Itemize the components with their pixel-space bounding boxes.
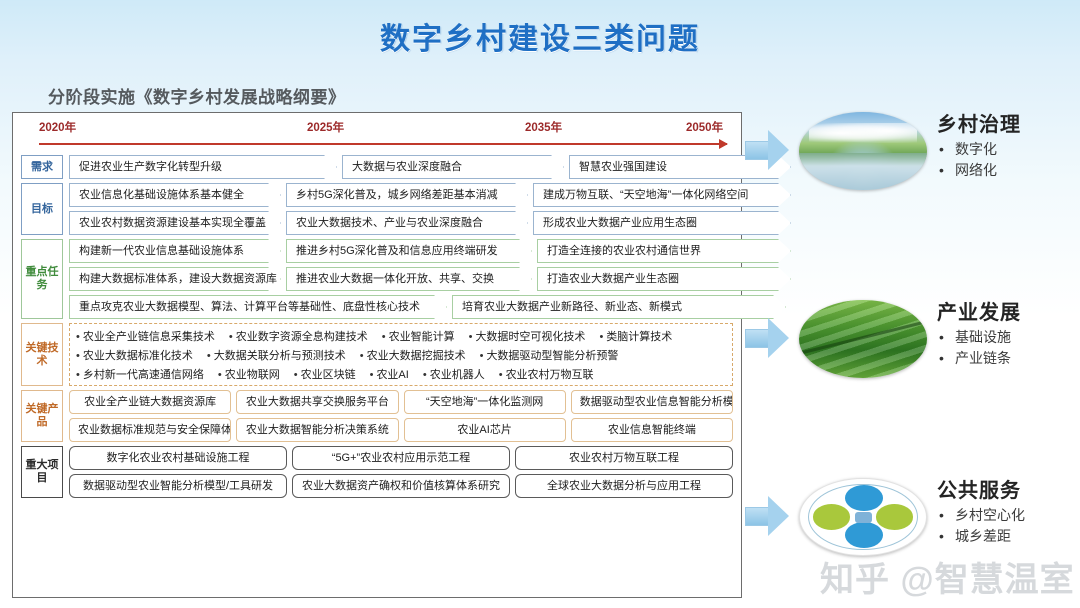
technology-item: 农业物联网 <box>218 366 280 382</box>
row-label-text: 重点任务 <box>22 266 62 291</box>
roadmap-band: 重点攻克农业大数据模型、算法、计算平台等基础性、底盘性核心技术培育农业大数据产业… <box>69 295 791 319</box>
row-label: 需求 <box>21 155 63 179</box>
roadmap-cell: “5G+”农业农村应用示范工程 <box>292 446 510 470</box>
roadmap-band: 农业数据标准规范与安全保障体系农业大数据智能分析决策系统农业AI芯片农业信息智能… <box>69 418 733 442</box>
roadmap-band: 构建大数据标准体系，建设大数据资源库推进农业大数据一体化开放、共享、交换打造农业… <box>69 267 791 291</box>
roadmap-band: 农业农村数据资源建设基本实现全覆盖农业大数据技术、产业与农业深度融合形成农业大数… <box>69 211 791 235</box>
roadmap-cell: 全球农业大数据分析与应用工程 <box>515 474 733 498</box>
diagram-lobe-top <box>845 485 883 511</box>
row-label-text: 目标 <box>31 203 53 216</box>
technology-line: 农业大数据标准化技术大数据关联分析与预测技术农业大数据挖掘技术大数据驱动型智能分… <box>76 347 726 363</box>
timeline-year-2050: 2050年 <box>686 119 723 135</box>
technology-item: 乡村新一代高速通信网络 <box>76 366 204 382</box>
technology-item: 农业机器人 <box>423 366 485 382</box>
roadmap-cell: 构建新一代农业信息基础设施体系 <box>69 239 281 263</box>
diagram-lobe-right <box>876 504 914 530</box>
panel-title: 乡村治理 <box>937 114 1021 137</box>
technology-line: 农业全产业链信息采集技术农业数字资源全息构建技术农业智能计算大数据时空可视化技术… <box>76 328 726 344</box>
row-label-text: 关键技术 <box>22 342 62 367</box>
list-item: 网络化 <box>937 160 1021 181</box>
panel-industry-development: 产业发展 基础设施 产业链条 <box>745 300 1021 378</box>
roadmap-cell: 构建大数据标准体系，建设大数据资源库 <box>69 267 281 291</box>
list-item: 基础设施 <box>937 327 1021 348</box>
row-body: 农业信息化基础设施体系基本健全乡村5G深化普及，城乡网络差距基本消减建成万物互联… <box>69 183 791 235</box>
panel-title: 公共服务 <box>937 480 1025 503</box>
row-body: 数字化农业农村基础设施工程“5G+”农业农村应用示范工程农业农村万物互联工程数据… <box>69 446 733 498</box>
row-label: 重大项目 <box>21 446 63 498</box>
technology-item: 大数据时空可视化技术 <box>469 328 586 344</box>
roadmap-cell: 农业大数据技术、产业与农业深度融合 <box>286 211 528 235</box>
panel-bullets: 基础设施 产业链条 <box>937 327 1021 369</box>
arrow-icon <box>745 318 789 358</box>
roadmap-rows: 需求促进农业生产数字化转型升级大数据与农业深度融合智慧农业强国建设目标农业信息化… <box>21 155 733 498</box>
technology-item: 大数据驱动型智能分析预警 <box>480 347 619 363</box>
roadmap-frame: 2020年 2025年 2035年 2050年 需求促进农业生产数字化转型升级大… <box>12 112 742 598</box>
technology-item: 农业AI <box>370 366 409 382</box>
list-item: 产业链条 <box>937 348 1021 369</box>
roadmap-cell: 数据驱动型农业信息智能分析模型 <box>571 390 733 414</box>
roadmap-cell: 农业信息智能终端 <box>571 418 733 442</box>
roadmap-row: 重点任务构建新一代农业信息基础设施体系推进乡村5G深化普及和信息应用终端研发打造… <box>21 239 733 319</box>
diagram-lobe-left <box>813 504 851 530</box>
roadmap-row: 需求促进农业生产数字化转型升级大数据与农业深度融合智慧农业强国建设 <box>21 155 733 179</box>
roadmap-cell: 数字化农业农村基础设施工程 <box>69 446 287 470</box>
technology-item: 农业大数据挖掘技术 <box>360 347 466 363</box>
roadmap-cell: 打造农业大数据产业生态圈 <box>537 267 791 291</box>
roadmap-cell: 农业数据标准规范与安全保障体系 <box>69 418 231 442</box>
roadmap-cell: 农业大数据共享交换服务平台 <box>236 390 398 414</box>
roadmap-cell: 培育农业大数据产业新路径、新业态、新模式 <box>452 295 786 319</box>
timeline-arrow-line <box>39 143 727 145</box>
row-body: 农业全产业链信息采集技术农业数字资源全息构建技术农业智能计算大数据时空可视化技术… <box>69 323 733 386</box>
timeline-year-2035: 2035年 <box>525 119 562 135</box>
roadmap-band: 数据驱动型农业智能分析模型/工具研发农业大数据资产确权和价值核算体系研究全球农业… <box>69 474 733 498</box>
row-body: 农业全产业链大数据资源库农业大数据共享交换服务平台“天空地海”一体化监测网数据驱… <box>69 390 733 442</box>
roadmap-band: 构建新一代农业信息基础设施体系推进乡村5G深化普及和信息应用终端研发打造全连接的… <box>69 239 791 263</box>
section-subtitle: 分阶段实施《数字乡村发展战略纲要》 <box>48 83 346 108</box>
panel-title: 产业发展 <box>937 302 1021 325</box>
technology-item: 大数据关联分析与预测技术 <box>207 347 346 363</box>
roadmap-band: 促进农业生产数字化转型升级大数据与农业深度融合智慧农业强国建设 <box>69 155 791 179</box>
technology-item: 农业全产业链信息采集技术 <box>76 328 215 344</box>
roadmap-row: 目标农业信息化基础设施体系基本健全乡村5G深化普及，城乡网络差距基本消减建成万物… <box>21 183 733 235</box>
panel-bullets: 数字化 网络化 <box>937 139 1021 181</box>
timeline-year-2025: 2025年 <box>307 119 344 135</box>
technology-item: 类脑计算技术 <box>599 328 672 344</box>
row-body: 构建新一代农业信息基础设施体系推进乡村5G深化普及和信息应用终端研发打造全连接的… <box>69 239 791 319</box>
roadmap-cell: 农业AI芯片 <box>404 418 566 442</box>
roadmap-cell: 促进农业生产数字化转型升级 <box>69 155 337 179</box>
roadmap-cell: 农业大数据资产确权和价值核算体系研究 <box>292 474 510 498</box>
roadmap-row: 关键产品农业全产业链大数据资源库农业大数据共享交换服务平台“天空地海”一体化监测… <box>21 390 733 442</box>
watermark: 知乎 @智慧温室 <box>820 552 1075 601</box>
panel-bullets: 乡村空心化 城乡差距 <box>937 505 1025 547</box>
timeline: 2020年 2025年 2035年 2050年 <box>21 119 733 155</box>
row-label: 关键技术 <box>21 323 63 386</box>
technology-item: 农业大数据标准化技术 <box>76 347 193 363</box>
technology-item: 农业数字资源全息构建技术 <box>229 328 368 344</box>
technology-item: 农业农村万物互联 <box>499 366 594 382</box>
roadmap-cell: 重点攻克农业大数据模型、算法、计算平台等基础性、底盘性核心技术 <box>69 295 447 319</box>
roadmap-band: 数字化农业农村基础设施工程“5G+”农业农村应用示范工程农业农村万物互联工程 <box>69 446 733 470</box>
roadmap-cell: 乡村5G深化普及，城乡网络差距基本消减 <box>286 183 528 207</box>
row-label-text: 重大项目 <box>22 459 62 484</box>
roadmap-cell: 农业大数据智能分析决策系统 <box>236 418 398 442</box>
technology-line: 乡村新一代高速通信网络农业物联网农业区块链农业AI农业机器人农业农村万物互联 <box>76 366 726 382</box>
arrow-icon <box>745 130 789 170</box>
roadmap-cell: 农业农村数据资源建设基本实现全覆盖 <box>69 211 281 235</box>
key-technology-panel: 农业全产业链信息采集技术农业数字资源全息构建技术农业智能计算大数据时空可视化技术… <box>69 323 733 386</box>
roadmap-cell: 数据驱动型农业智能分析模型/工具研发 <box>69 474 287 498</box>
roadmap-cell: 农业全产业链大数据资源库 <box>69 390 231 414</box>
list-item: 数字化 <box>937 139 1021 160</box>
technology-item: 农业智能计算 <box>382 328 455 344</box>
list-item: 乡村空心化 <box>937 505 1025 526</box>
page-title: 数字乡村建设三类问题 <box>0 14 1080 58</box>
panel-rural-governance: 乡村治理 数字化 网络化 <box>745 112 1021 190</box>
list-item: 城乡差距 <box>937 526 1025 547</box>
four-lobe-diagram <box>799 478 927 556</box>
roadmap-cell: “天空地海”一体化监测网 <box>404 390 566 414</box>
row-label: 关键产品 <box>21 390 63 442</box>
roadmap-cell: 打造全连接的农业农村通信世界 <box>537 239 791 263</box>
row-body: 促进农业生产数字化转型升级大数据与农业深度融合智慧农业强国建设 <box>69 155 791 179</box>
roadmap-cell: 推进农业大数据一体化开放、共享、交换 <box>286 267 532 291</box>
roadmap-cell: 形成农业大数据产业应用生态圈 <box>533 211 791 235</box>
roadmap-cell: 推进乡村5G深化普及和信息应用终端研发 <box>286 239 532 263</box>
technology-item: 农业区块链 <box>294 366 356 382</box>
roadmap-row: 关键技术农业全产业链信息采集技术农业数字资源全息构建技术农业智能计算大数据时空可… <box>21 323 733 386</box>
panel-public-service: 公共服务 乡村空心化 城乡差距 <box>745 478 1025 556</box>
row-label-text: 需求 <box>31 161 53 174</box>
roadmap-band: 农业全产业链大数据资源库农业大数据共享交换服务平台“天空地海”一体化监测网数据驱… <box>69 390 733 414</box>
arrow-icon <box>745 496 789 536</box>
row-label: 目标 <box>21 183 63 235</box>
row-label-text: 关键产品 <box>22 403 62 428</box>
roadmap-row: 重大项目数字化农业农村基础设施工程“5G+”农业农村应用示范工程农业农村万物互联… <box>21 446 733 498</box>
row-label: 重点任务 <box>21 239 63 319</box>
roadmap-cell: 农业农村万物互联工程 <box>515 446 733 470</box>
roadmap-cell: 大数据与农业深度融合 <box>342 155 564 179</box>
timeline-year-2020: 2020年 <box>39 119 76 135</box>
village-riverside-photo <box>799 112 927 190</box>
roadmap-band: 农业信息化基础设施体系基本健全乡村5G深化普及，城乡网络差距基本消减建成万物互联… <box>69 183 791 207</box>
diagram-core <box>855 512 871 523</box>
green-farm-fields-photo <box>799 300 927 378</box>
roadmap-cell: 农业信息化基础设施体系基本健全 <box>69 183 281 207</box>
